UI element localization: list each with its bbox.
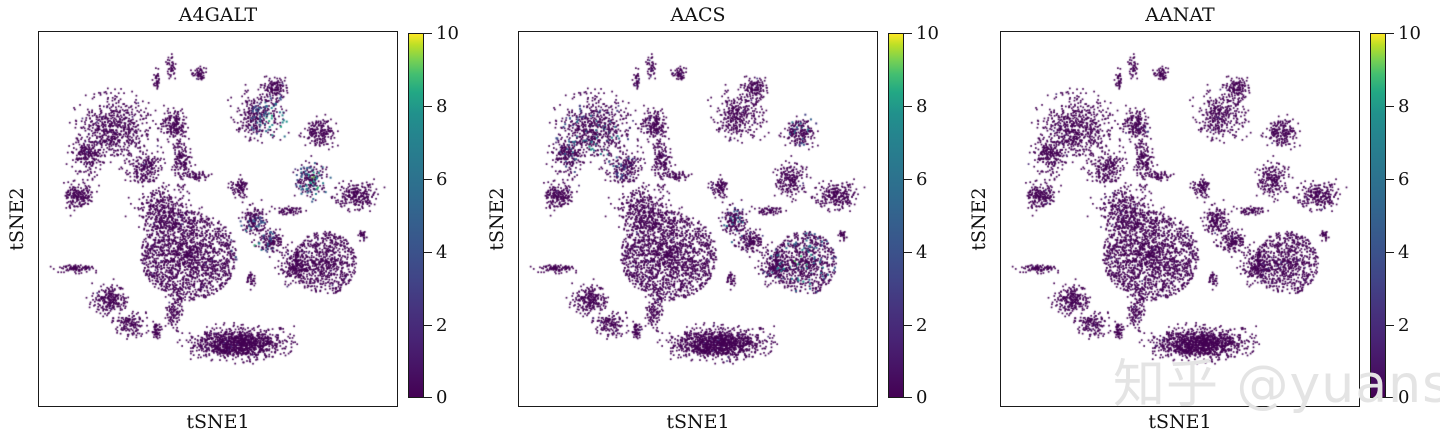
- colorbar-ticklabel: 8: [916, 96, 927, 117]
- colorbar-ticklabel: 6: [436, 169, 447, 190]
- y-axis-label: tSNE2: [486, 174, 508, 264]
- colorbar-ticklabel: 0: [436, 387, 447, 408]
- colorbar-tick: [424, 106, 432, 107]
- colorbar-tick: [904, 106, 912, 107]
- colorbar-ticklabel: 10: [436, 23, 459, 44]
- colorbar-ticklabel: 4: [916, 242, 927, 263]
- colorbar-ticklabel: 6: [1398, 169, 1409, 190]
- colorbar-tick: [1386, 397, 1394, 398]
- colorbar[interactable]: [408, 33, 424, 398]
- panel-aacs: AACS tSNE2 tSNE1 10 8 6 4 2 0: [480, 0, 960, 443]
- colorbar-tick: [904, 252, 912, 253]
- colorbar-ticklabel: 8: [1398, 96, 1409, 117]
- colorbar-tick: [1386, 33, 1394, 34]
- colorbar-tick: [424, 33, 432, 34]
- x-axis-label: tSNE1: [38, 411, 398, 433]
- figure-canvas: A4GALT tSNE2 tSNE1 10 8 6 4 2 0 AACS tSN…: [0, 0, 1440, 443]
- colorbar-tick: [424, 397, 432, 398]
- colorbar-ticklabel: 6: [916, 169, 927, 190]
- colorbar-tick: [1386, 252, 1394, 253]
- colorbar-tick: [904, 325, 912, 326]
- scatter-points: [39, 32, 396, 405]
- x-axis-label: tSNE1: [518, 411, 878, 433]
- colorbar-ticklabel: 2: [1398, 315, 1409, 336]
- colorbar-ticklabel: 0: [1398, 387, 1409, 408]
- colorbar-tick: [904, 179, 912, 180]
- colorbar-tick: [904, 33, 912, 34]
- colorbar-tick: [904, 397, 912, 398]
- panel-title: AANAT: [1000, 4, 1360, 26]
- colorbar[interactable]: [888, 33, 904, 398]
- x-axis-label: tSNE1: [1000, 411, 1360, 433]
- colorbar-tick: [1386, 106, 1394, 107]
- y-axis-label: tSNE2: [6, 174, 28, 264]
- colorbar-tick: [424, 179, 432, 180]
- scatter-points: [1001, 32, 1358, 405]
- colorbar-ticklabel: 10: [916, 23, 939, 44]
- colorbar-ticklabel: 0: [916, 387, 927, 408]
- colorbar-tick: [1386, 325, 1394, 326]
- colorbar[interactable]: [1370, 33, 1386, 398]
- colorbar-ticklabel: 8: [436, 96, 447, 117]
- panel-title: A4GALT: [38, 4, 398, 26]
- scatter-points: [519, 32, 876, 405]
- scatter-axes[interactable]: [38, 31, 398, 407]
- panel-a4galt: A4GALT tSNE2 tSNE1 10 8 6 4 2 0: [0, 0, 480, 443]
- y-axis-label: tSNE2: [968, 174, 990, 264]
- panel-aanat: AANAT tSNE2 tSNE1 10 8 6 4 2 0: [962, 0, 1440, 443]
- scatter-axes[interactable]: [1000, 31, 1360, 407]
- colorbar-ticklabel: 4: [436, 242, 447, 263]
- scatter-axes[interactable]: [518, 31, 878, 407]
- colorbar-ticklabel: 2: [916, 315, 927, 336]
- colorbar-tick: [424, 325, 432, 326]
- panel-title: AACS: [518, 4, 878, 26]
- colorbar-tick: [424, 252, 432, 253]
- colorbar-ticklabel: 2: [436, 315, 447, 336]
- colorbar-ticklabel: 10: [1398, 23, 1421, 44]
- colorbar-ticklabel: 4: [1398, 242, 1409, 263]
- colorbar-tick: [1386, 179, 1394, 180]
